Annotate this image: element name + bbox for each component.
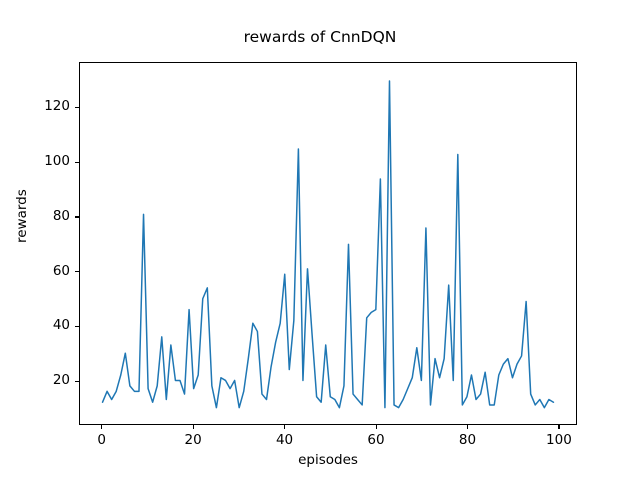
matplotlib-figure: rewards of CnnDQN rewards episodes 12010… (0, 0, 640, 480)
x-tickmark (193, 425, 194, 429)
page-title: rewards of CnnDQN (0, 28, 640, 46)
x-tick-label: 40 (255, 432, 315, 448)
x-tickmark (467, 425, 468, 429)
rewards-line-series (80, 63, 576, 424)
y-tick-label: 40 (0, 317, 70, 333)
plot-area (79, 62, 577, 425)
y-tick-label: 120 (0, 98, 70, 114)
x-tickmark (558, 425, 559, 429)
y-tick-label: 60 (0, 263, 70, 279)
y-tick-label: 20 (0, 372, 70, 388)
x-tick-label: 20 (163, 432, 223, 448)
x-axis-label: episodes (79, 452, 577, 468)
x-tickmark (284, 425, 285, 429)
x-tickmark (101, 425, 102, 429)
x-tick-label: 80 (437, 432, 497, 448)
x-tick-label: 60 (346, 432, 406, 448)
x-tick-label: 100 (529, 432, 589, 448)
y-tick-label: 80 (0, 208, 70, 224)
x-tickmark (376, 425, 377, 429)
x-tick-label: 0 (72, 432, 132, 448)
y-tick-label: 100 (0, 153, 70, 169)
